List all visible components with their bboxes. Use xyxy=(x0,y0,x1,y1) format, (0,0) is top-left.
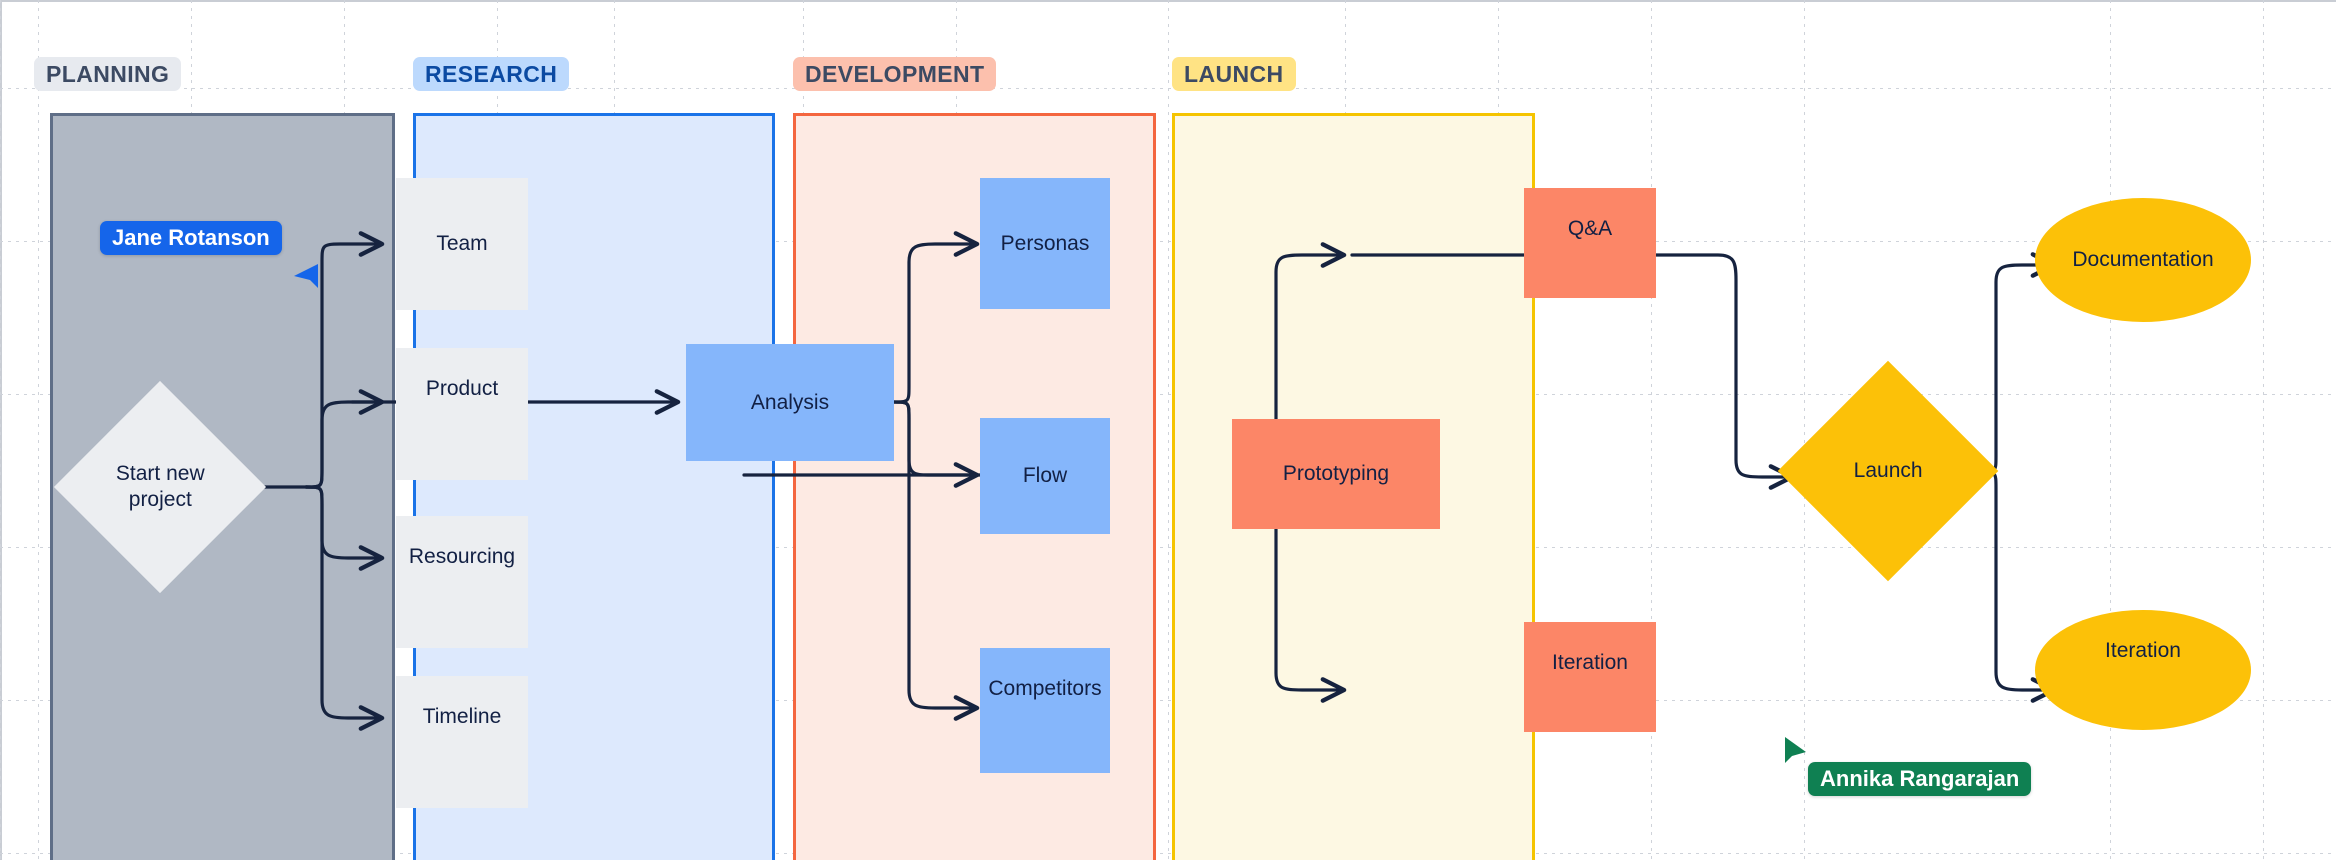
node-label: Documentation xyxy=(2072,247,2213,273)
gridline-vertical xyxy=(2263,0,2264,860)
node-prototyping[interactable]: Prototyping xyxy=(1232,419,1440,529)
node-label: Q&A xyxy=(1568,216,1612,242)
node-label: Resourcing xyxy=(409,544,515,570)
node-label: Competitors xyxy=(988,676,1101,702)
gridline-vertical xyxy=(0,0,1,860)
node-resourcing[interactable]: Resourcing xyxy=(396,516,528,648)
node-team[interactable]: Team xyxy=(396,178,528,310)
node-label: Team xyxy=(436,231,487,257)
node-launch-iteration[interactable]: Iteration xyxy=(2035,610,2251,730)
node-dev-iteration[interactable]: Iteration xyxy=(1524,622,1656,732)
cursor-label-jane[interactable]: Jane Rotanson xyxy=(100,221,282,255)
edge-launch-documentation xyxy=(1980,265,2052,472)
up-left-arrow-cursor xyxy=(1782,735,1812,769)
swimlane-label-planning[interactable]: PLANNING xyxy=(34,57,181,91)
node-label: Personas xyxy=(1001,231,1090,257)
node-label: Prototyping xyxy=(1283,461,1389,487)
gridline-vertical xyxy=(1168,0,1169,860)
swimlane-label-research[interactable]: RESEARCH xyxy=(413,57,569,91)
node-label: Analysis xyxy=(751,390,829,416)
node-documentation[interactable]: Documentation xyxy=(2035,198,2251,322)
gridline-horizontal xyxy=(0,88,2336,89)
flowchart-canvas[interactable]: PLANNING RESEARCH DEVELOPMENT LAUNCH xyxy=(0,0,2336,860)
node-qa[interactable]: Q&A xyxy=(1524,188,1656,298)
node-personas[interactable]: Personas xyxy=(980,178,1110,309)
node-analysis[interactable]: Analysis xyxy=(686,344,894,461)
cursor-label-annika[interactable]: Annika Rangarajan xyxy=(1808,762,2031,796)
node-timeline[interactable]: Timeline xyxy=(396,676,528,808)
swimlane-label-launch[interactable]: LAUNCH xyxy=(1172,57,1296,91)
gridline-vertical xyxy=(2110,0,2111,860)
node-competitors[interactable]: Competitors xyxy=(980,648,1110,773)
swimlane-label-development[interactable]: DEVELOPMENT xyxy=(793,57,996,91)
node-flow[interactable]: Flow xyxy=(980,418,1110,534)
node-label: Launch xyxy=(1810,458,1966,484)
node-label: Start new project xyxy=(85,461,235,512)
gridline-vertical xyxy=(1804,0,1805,860)
node-label: Iteration xyxy=(2105,638,2181,664)
gridline-vertical xyxy=(38,0,39,860)
node-label: Timeline xyxy=(423,704,502,730)
node-label: Product xyxy=(426,376,498,402)
node-product[interactable]: Product xyxy=(396,348,528,480)
node-label: Flow xyxy=(1023,463,1067,489)
node-label: Iteration xyxy=(1552,650,1628,676)
left-arrow-cursor xyxy=(288,258,322,292)
